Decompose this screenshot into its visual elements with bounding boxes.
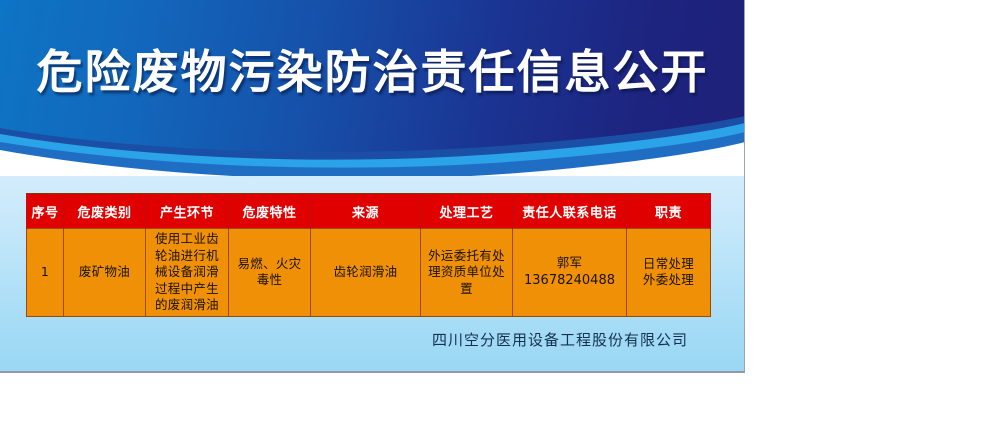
information-disclosure-poster: 危险废物污染防治责任信息公开 序号 危废类别 产生环节 危废特性 来源 处理工艺…: [0, 0, 745, 373]
column-header-source: 来源: [311, 194, 421, 229]
cell-contact: 郭军 13678240488: [513, 229, 627, 317]
cell-source: 齿轮润滑油: [311, 229, 421, 317]
contact-phone-number: 13678240488: [517, 272, 622, 289]
cell-process: 外运委托有处理资质单位处置: [421, 229, 513, 317]
column-header-category: 危废类别: [64, 194, 146, 229]
column-header-index: 序号: [27, 194, 64, 229]
column-header-duty: 职责: [627, 194, 711, 229]
column-header-stage: 产生环节: [146, 194, 229, 229]
cell-index: 1: [27, 229, 64, 317]
company-name: 四川空分医用设备工程股份有限公司: [400, 329, 720, 350]
cell-category: 废矿物油: [64, 229, 146, 317]
table-row: 1 废矿物油 使用工业齿轮油进行机械设备润滑过程中产生的废润滑油 易燃、火灾毒性…: [27, 229, 711, 317]
column-header-characteristic: 危废特性: [229, 194, 311, 229]
column-header-process: 处理工艺: [421, 194, 513, 229]
column-header-contact-phone: 责任人联系电话: [513, 194, 627, 229]
hazardous-waste-table: 序号 危废类别 产生环节 危废特性 来源 处理工艺 责任人联系电话 职责 1 废…: [26, 193, 711, 317]
cell-stage: 使用工业齿轮油进行机械设备润滑过程中产生的废润滑油: [146, 229, 229, 317]
cell-characteristic: 易燃、火灾毒性: [229, 229, 311, 317]
contact-person-name: 郭军: [517, 255, 622, 272]
table-header-row: 序号 危废类别 产生环节 危废特性 来源 处理工艺 责任人联系电话 职责: [27, 194, 711, 229]
page-title: 危险废物污染防治责任信息公开: [0, 46, 745, 99]
poster-banner: 危险废物污染防治责任信息公开: [0, 0, 745, 176]
cell-duty: 日常处理外委处理: [627, 229, 711, 317]
